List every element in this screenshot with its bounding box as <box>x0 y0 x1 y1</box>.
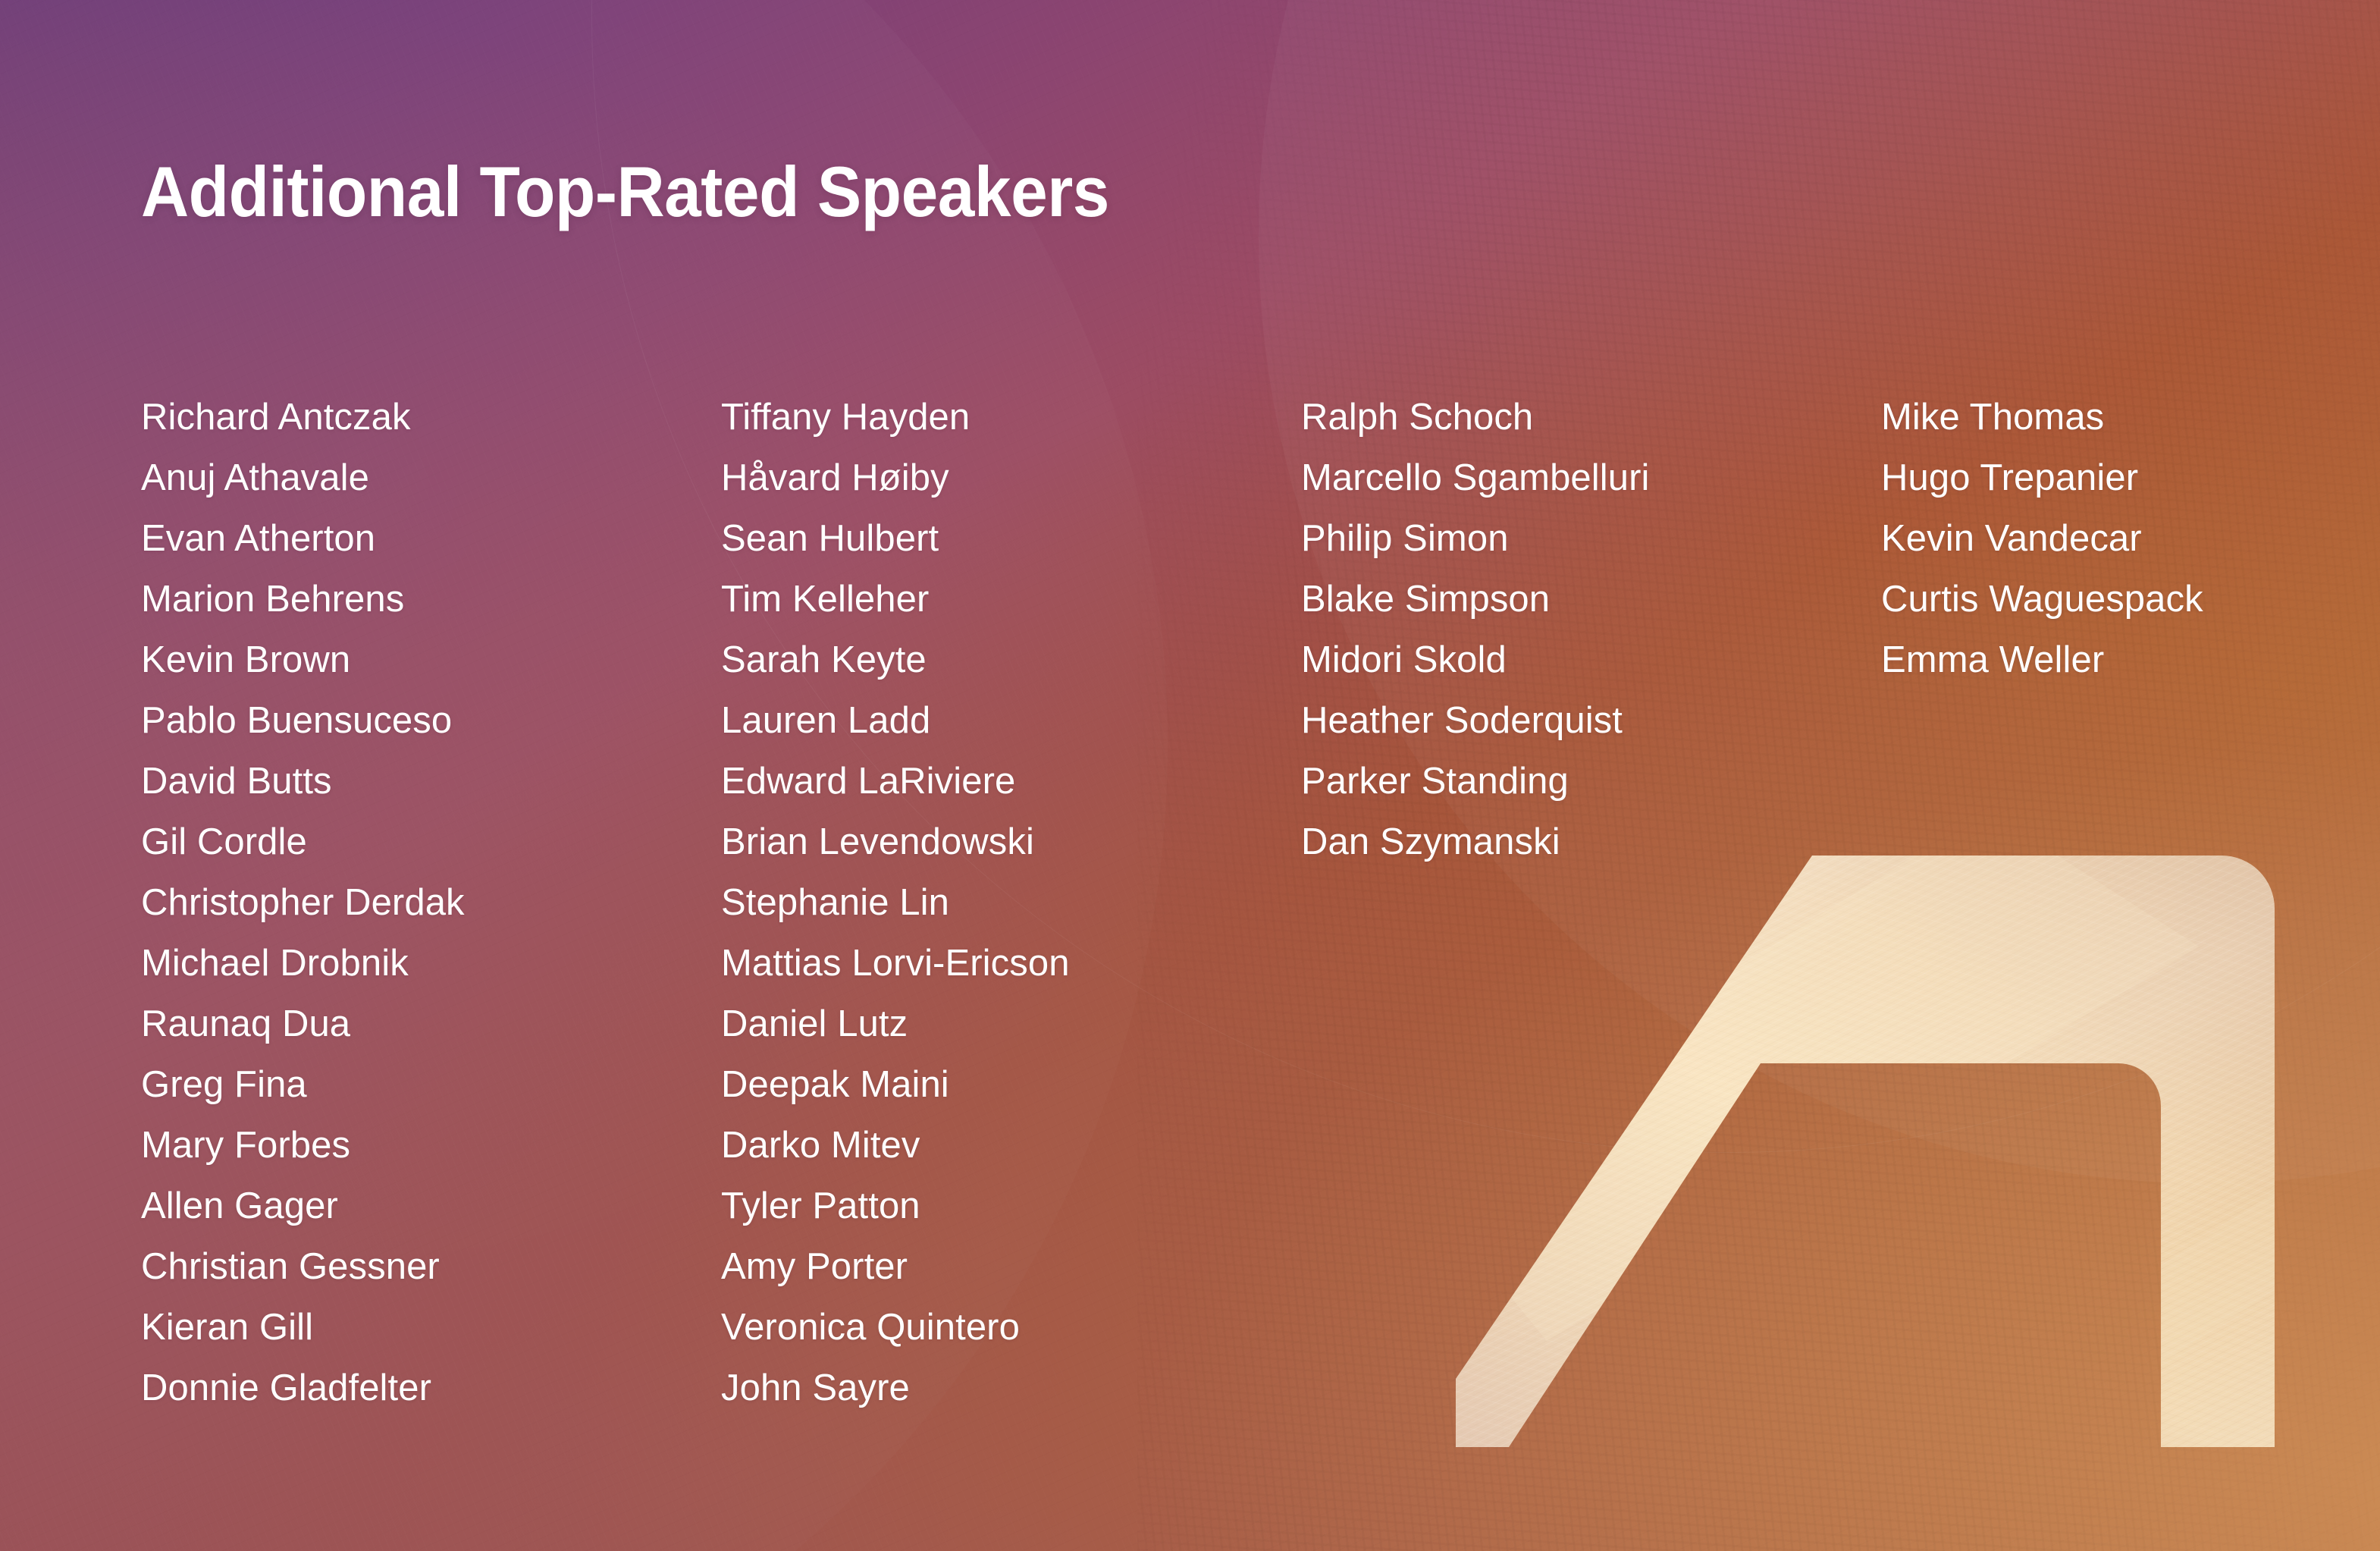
speaker-name: Pablo Buensuceso <box>141 690 721 751</box>
speaker-name: Edward LaRiviere <box>721 751 1301 812</box>
speaker-name: Greg Fina <box>141 1054 721 1115</box>
speaker-name: Donnie Gladfelter <box>141 1358 721 1418</box>
speaker-name: Kevin Vandecar <box>1881 508 2380 569</box>
speaker-name: Sarah Keyte <box>721 630 1301 690</box>
speaker-name: Amy Porter <box>721 1236 1301 1297</box>
speaker-name: Blake Simpson <box>1301 569 1881 630</box>
speaker-name: Kevin Brown <box>141 630 721 690</box>
speaker-name: Michael Drobnik <box>141 933 721 994</box>
speaker-columns: Richard Antczak Anuj Athavale Evan Ather… <box>141 387 2309 1418</box>
speaker-name: Gil Cordle <box>141 812 721 872</box>
speaker-name: Curtis Waguespack <box>1881 569 2380 630</box>
speaker-name: Christopher Derdak <box>141 872 721 933</box>
speaker-name: Dan Szymanski <box>1301 812 1881 872</box>
speaker-name: Marion Behrens <box>141 569 721 630</box>
speaker-name: Ralph Schoch <box>1301 387 1881 447</box>
speaker-name: Tim Kelleher <box>721 569 1301 630</box>
speaker-name: Evan Atherton <box>141 508 721 569</box>
speaker-name: Richard Antczak <box>141 387 721 447</box>
page-title: Additional Top-Rated Speakers <box>141 155 1109 230</box>
speaker-name: Midori Skold <box>1301 630 1881 690</box>
speaker-name: Deepak Maini <box>721 1054 1301 1115</box>
speaker-name: Anuj Athavale <box>141 447 721 508</box>
speaker-name: Sean Hulbert <box>721 508 1301 569</box>
speaker-name: Emma Weller <box>1881 630 2380 690</box>
speaker-name: Raunaq Dua <box>141 994 721 1054</box>
speaker-name: David Butts <box>141 751 721 812</box>
speaker-name: Allen Gager <box>141 1176 721 1236</box>
speaker-name: Marcello Sgambelluri <box>1301 447 1881 508</box>
speaker-column-1: Richard Antczak Anuj Athavale Evan Ather… <box>141 387 721 1418</box>
speaker-name: Mike Thomas <box>1881 387 2380 447</box>
speaker-name: Hugo Trepanier <box>1881 447 2380 508</box>
speaker-name: Brian Levendowski <box>721 812 1301 872</box>
speaker-name: Darko Mitev <box>721 1115 1301 1176</box>
speaker-column-4: Mike Thomas Hugo Trepanier Kevin Vandeca… <box>1881 387 2380 1418</box>
speaker-name: Kieran Gill <box>141 1297 721 1358</box>
speaker-name: Mary Forbes <box>141 1115 721 1176</box>
speaker-name: Parker Standing <box>1301 751 1881 812</box>
speaker-name: Tiffany Hayden <box>721 387 1301 447</box>
speaker-name: Tyler Patton <box>721 1176 1301 1236</box>
speaker-name: Mattias Lorvi-Ericson <box>721 933 1301 994</box>
speaker-name: Stephanie Lin <box>721 872 1301 933</box>
presentation-slide: Additional Top-Rated Speakers Richard An… <box>0 0 2380 1551</box>
speaker-column-2: Tiffany Hayden Håvard Høiby Sean Hulbert… <box>721 387 1301 1418</box>
speaker-name: Daniel Lutz <box>721 994 1301 1054</box>
speaker-name: Håvard Høiby <box>721 447 1301 508</box>
speaker-name: Veronica Quintero <box>721 1297 1301 1358</box>
speaker-name: Philip Simon <box>1301 508 1881 569</box>
speaker-name: Lauren Ladd <box>721 690 1301 751</box>
speaker-name: Heather Soderquist <box>1301 690 1881 751</box>
speaker-name: John Sayre <box>721 1358 1301 1418</box>
speaker-column-3: Ralph Schoch Marcello Sgambelluri Philip… <box>1301 387 1881 1418</box>
speaker-name: Christian Gessner <box>141 1236 721 1297</box>
